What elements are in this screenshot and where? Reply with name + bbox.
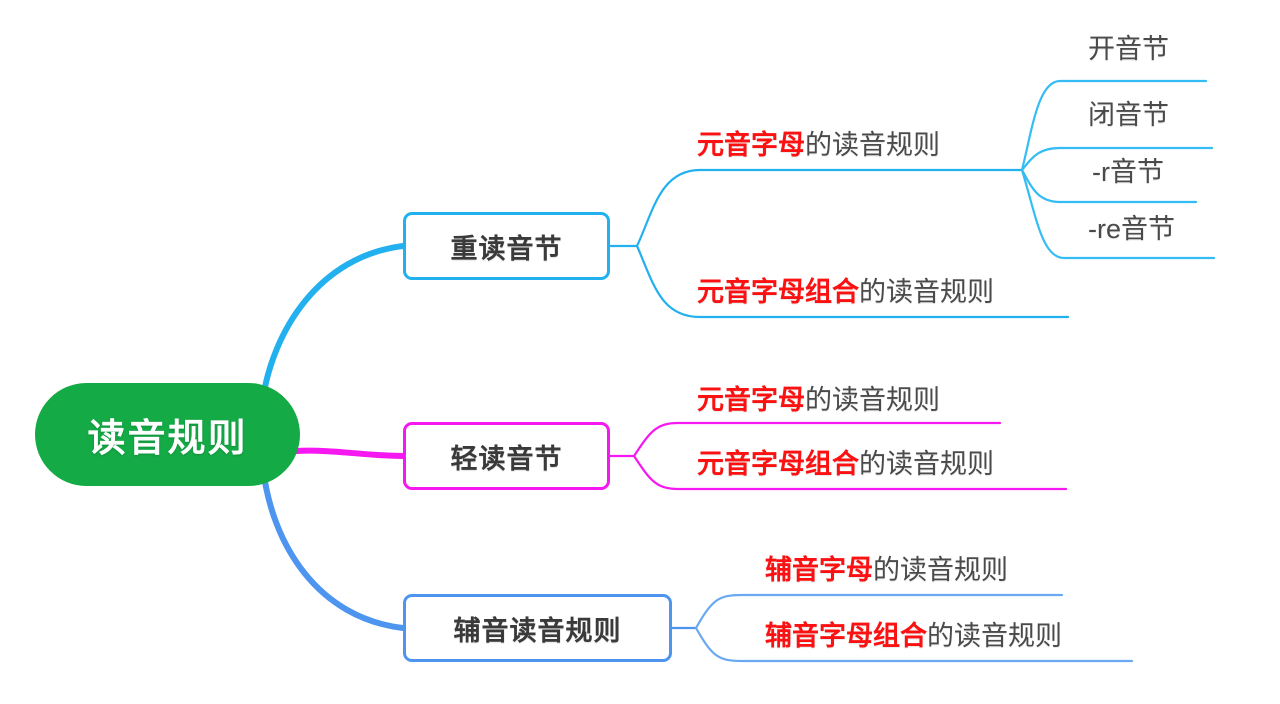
leaf-rest-text: 的读音规则 <box>805 385 940 415</box>
leaf-highlight-text: 元音字母 <box>697 385 805 415</box>
branch-node-label: 辅音读音规则 <box>454 609 622 648</box>
leaf-highlight-text: 辅音字母组合 <box>765 621 927 651</box>
leaf-node-consonant-letter-rules[interactable]: 辅音字母的读音规则 <box>765 556 1008 584</box>
leaf-rest-text: 的读音规则 <box>805 130 940 160</box>
leaf-node-vowel-combo-rules-stressed[interactable]: 元音字母组合的读音规则 <box>697 278 994 306</box>
connector-root-to-branch-2 <box>263 468 403 628</box>
leaf-highlight-text: 元音字母 <box>697 130 805 160</box>
branch-node-stressed-syllable[interactable]: 重读音节 <box>403 212 610 280</box>
leaf-rest-text: 的读音规则 <box>927 621 1062 651</box>
leaf-rest-text: 的读音规则 <box>859 277 994 307</box>
leaf-node-vowel-letter-rules-stressed[interactable]: 元音字母的读音规则 <box>697 131 940 159</box>
branch-node-unstressed-syllable[interactable]: 轻读音节 <box>403 422 610 490</box>
leaf-rest-text: 的读音规则 <box>859 449 994 479</box>
leaf-highlight-text: 元音字母组合 <box>697 277 859 307</box>
branch-node-label: 重读音节 <box>451 227 563 266</box>
leaf-highlight-text: 元音字母组合 <box>697 449 859 479</box>
leaf-node-vowel-letter-rules-unstressed[interactable]: 元音字母的读音规则 <box>697 386 940 414</box>
connector-root-to-branch-0 <box>262 246 403 404</box>
leaf-node-consonant-combo-rules[interactable]: 辅音字母组合的读音规则 <box>765 622 1062 650</box>
mindmap-canvas: 读音规则 重读音节 轻读音节 辅音读音规则 元音字母的读音规则 元音字母组合的读… <box>0 0 1280 704</box>
branch-node-label: 轻读音节 <box>451 437 563 476</box>
leaf-highlight-text: 辅音字母 <box>765 555 873 585</box>
leaf-node-open-syllable[interactable]: 开音节 <box>1088 35 1169 63</box>
leaf-node-closed-syllable[interactable]: 闭音节 <box>1088 101 1169 129</box>
leaf-node-re-syllable[interactable]: -re音节 <box>1088 215 1175 243</box>
root-node-label: 读音规则 <box>87 407 247 462</box>
connector-root-to-branch-1 <box>296 451 403 456</box>
root-node[interactable]: 读音规则 <box>35 383 300 486</box>
branch-node-consonant-rules[interactable]: 辅音读音规则 <box>403 594 672 662</box>
connector-branch-0-to-leaf-0-0 <box>637 170 1022 246</box>
leaf-node-vowel-combo-rules-unstressed[interactable]: 元音字母组合的读音规则 <box>697 450 994 478</box>
leaf-node-r-syllable[interactable]: -r音节 <box>1092 158 1164 186</box>
leaf-rest-text: 的读音规则 <box>873 555 1008 585</box>
